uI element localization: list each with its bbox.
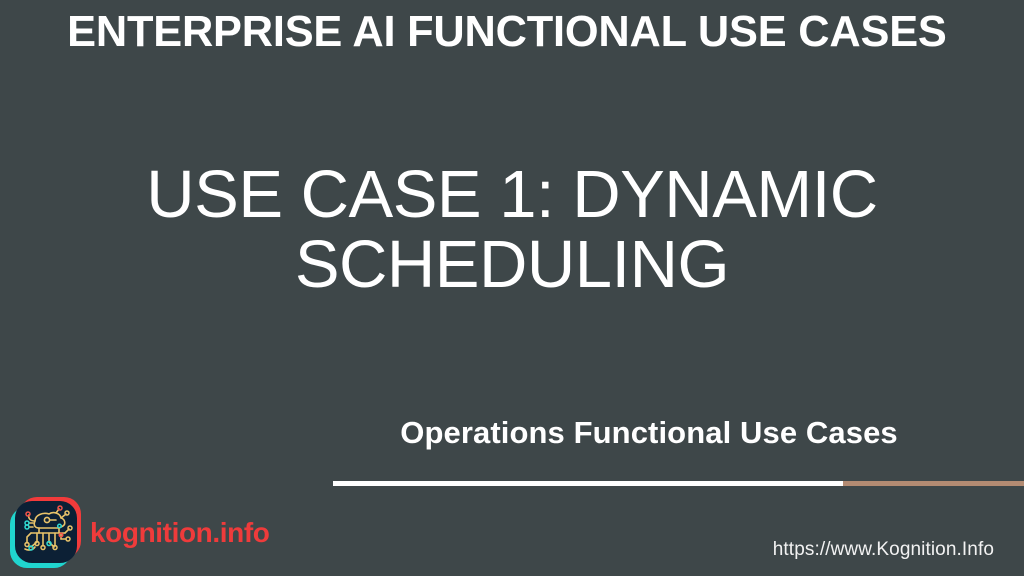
logo-chip-face (15, 501, 77, 563)
page-title: USE CASE 1: DYNAMIC SCHEDULING (60, 160, 964, 300)
slide-header-title: ENTERPRISE AI FUNCTIONAL USE CASES (40, 7, 974, 57)
circuit-brain-icon (10, 497, 81, 568)
divider-segment-accent (843, 481, 1024, 486)
presentation-slide: ENTERPRISE AI FUNCTIONAL USE CASES USE C… (0, 0, 1024, 576)
divider-segment-white (333, 481, 843, 486)
divider (333, 481, 1024, 486)
slide-subtitle: Operations Functional Use Cases (333, 414, 965, 452)
brand-logo: kognition.info (10, 497, 269, 568)
brand-name: kognition.info (90, 518, 269, 548)
footer-url: https://www.Kognition.Info (773, 537, 994, 563)
